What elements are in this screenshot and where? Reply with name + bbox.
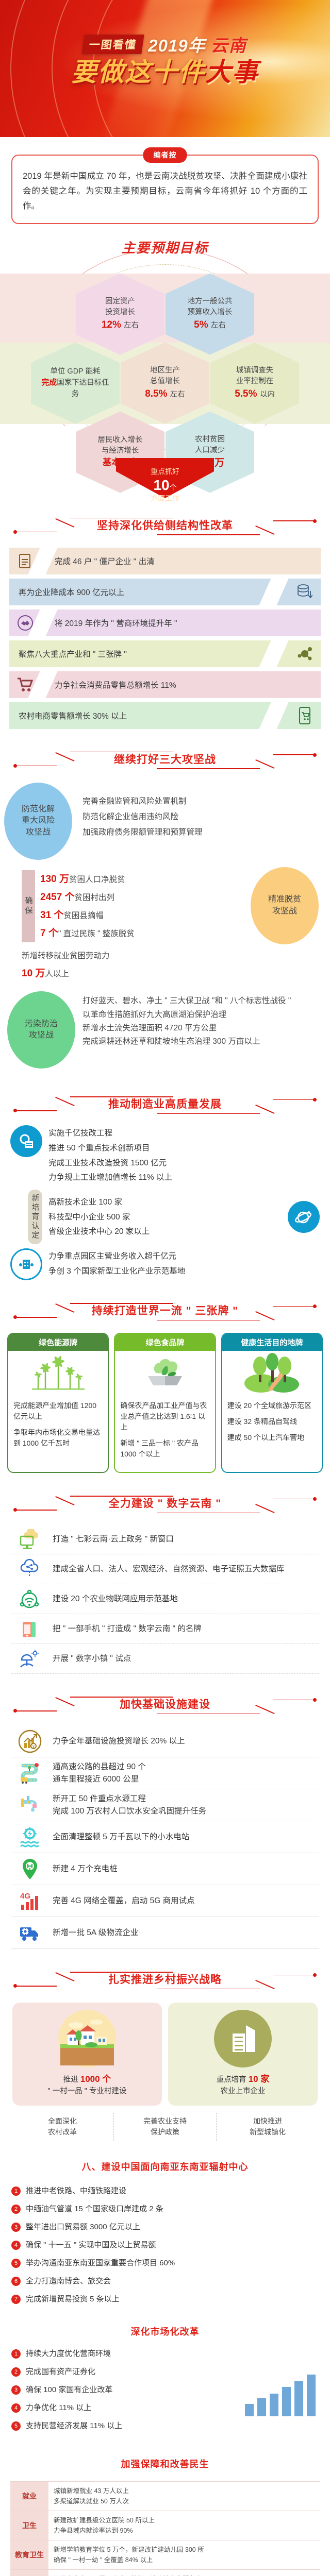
infra-row-text: 通高速公路的县超过 90 个 通车里程接近 6000 公里 <box>48 1761 146 1786</box>
digital-row-text: 开展 " 数字小镇 " 试点 <box>47 1653 131 1665</box>
section-heading-opening-up: 八、建设中国面向南亚东南亚辐射中心 <box>0 2154 330 2180</box>
rural-num: 10 家 <box>249 2074 270 2084</box>
open-row: 5举办沟通南亚东南亚国家重要合作项目 60% <box>11 2257 319 2269</box>
hex-line1: 地方一般公共 <box>188 296 233 307</box>
planet-icon <box>288 1201 320 1233</box>
card-item: 建设 32 条精品自驾线 <box>227 1416 317 1427</box>
ensure-rest: 贫困县摘帽 <box>63 911 104 920</box>
banner-text: 聚焦八大重点产业和 " 三张牌 " <box>9 648 130 659</box>
logistics-truck-icon <box>11 1921 48 1945</box>
battle-num: 10 万 <box>22 968 45 979</box>
mfg-line: 科技型中小企业 500 家 <box>48 1210 288 1225</box>
row-value: 新建改扩建县级公立医院 50 所以上 力争县域内就诊率达到 90% <box>48 2511 160 2540</box>
editor-note-badge: 编者按 <box>143 147 187 163</box>
three-battles-list: 防范化解 重大风险 攻坚战 完善金融监管和风险处置机制 防范化解企业信用违约风险… <box>0 783 330 1074</box>
livelihood-table: 就业 城镇新增就业 43 万人以上 多渠道解决就业 50 万人次 卫生 新建改扩… <box>10 2481 320 2576</box>
hex-value: 8.5% <box>145 388 167 399</box>
growth-chart-icon: ¥ <box>11 1730 48 1753</box>
rural-num: 1000 个 <box>80 2074 111 2084</box>
hex-line1: 固定资产 <box>105 296 135 307</box>
battle-line: 以革命性措施抓好九大高原湖泊保护治理 <box>82 1008 320 1022</box>
hex-value: 5% <box>194 319 208 330</box>
open-row: 4确保 " 十一五 " 实现中国及以上贸易额 <box>11 2239 319 2251</box>
digital-yunnan-list: 打造 " 七彩云南·云上政务 " 新窗口 建成全省人口、法人、宏观经济、自然资源… <box>11 1524 319 1674</box>
hex-line1: 农村贫困 <box>195 434 225 445</box>
battle-blob-label: 污染防治 攻坚战 <box>7 991 75 1069</box>
infra-row-hydropower: 全面清理整顿 5 万千瓦以下的小水电站 <box>11 1821 319 1853</box>
bullet-badge: 4 <box>11 2403 21 2413</box>
svg-text:¥: ¥ <box>32 1744 35 1749</box>
section-heading-digital-yunnan: 全力建设 " 数字云南 " <box>0 1486 330 1521</box>
row-key: 卫生 <box>10 2511 48 2540</box>
hex-line2: 与经济增长 <box>102 446 139 456</box>
blob-line: 攻坚战 <box>22 827 55 838</box>
section-heading-supply-side: 坚持深化供给侧结构性改革 <box>0 509 330 544</box>
hero-headline-gold: 要做这十件 <box>71 58 205 87</box>
hex-suffix: 左右 <box>170 391 185 399</box>
rural-columns: 全面深化 农村改革 完善农业支持 保护政策 加快推进 新型城镇化 <box>11 2113 319 2141</box>
open-row: 3整年进出口贸易额 3000 亿元以上 <box>11 2221 319 2233</box>
infra-row-text: 完善 4G 网络全覆盖，启动 5G 商用试点 <box>48 1895 195 1907</box>
wind-turbines-icon <box>8 1351 108 1395</box>
village-icon <box>58 2010 116 2067</box>
rural-col-reform: 全面深化 农村改革 <box>11 2113 113 2141</box>
rural-cards: 推进 1000 个 " 一村一品 " 专业村建设 重点培育 10 家 农业上市企… <box>12 2003 318 2106</box>
banner-eight-industries: 聚焦八大重点产业和 " 三张牌 " <box>9 640 321 667</box>
reform-row: 4力争优化 11% 以上 <box>11 2402 241 2414</box>
reform-row: 5支持民营经济发展 11% 以上 <box>11 2420 241 2432</box>
infrastructure-list: ¥ 力争全年基础设施投资增长 20% 以上 通高速公路的县超过 90 个 通车里… <box>11 1725 319 1949</box>
card-item: 新增 " 三品一标 " 农产品 1000 个以上 <box>120 1438 209 1460</box>
infographic-page: 一图看懂 2019年 云南 要做这十件大事 编者按 2019 年是新中国成立 7… <box>0 0 330 2576</box>
hex-line2: 人口减少 <box>195 445 225 456</box>
ensure-label: 确保 <box>22 870 35 943</box>
focus-arrow: 重点抓好 10个 方面工作 <box>116 458 214 498</box>
blob-line: 防范化解 <box>22 804 55 815</box>
water-tap-icon <box>11 1793 48 1817</box>
hex-suffix: 左右 <box>211 321 226 330</box>
hex-suffix: 左右 <box>124 321 139 330</box>
mfg-line: 实施千亿技改工程 <box>48 1126 172 1141</box>
section-title: 扎实推进乡村振兴战略 <box>0 1962 330 1997</box>
section-title: 推动制造业高质量发展 <box>0 1087 330 1122</box>
row-value: 推进文化惠民工程，建成一批基层综合性文化服务中心 加快推进公共文化服务体系建设 <box>48 2570 213 2576</box>
ensure-num: 31 个 <box>40 910 63 921</box>
infra-row-logistics: 新增一批 5A 级物流企业 <box>11 1917 319 1949</box>
cloud-data-icon <box>11 1559 47 1580</box>
shopping-cart-icon <box>9 677 41 692</box>
table-row: 就业 城镇新增就业 43 万人以上 多渠道解决就业 50 万人次 <box>10 2482 320 2511</box>
banner-text: 再为企业降成本 900 亿元以上 <box>9 586 127 598</box>
hex-suffix: 国家下达目标任务 <box>57 379 109 398</box>
card-title: 绿色能源牌 <box>8 1334 108 1351</box>
digital-row-digital-town: 开展 " 数字小镇 " 试点 <box>11 1644 319 1674</box>
ensure-rest: " 直过民族 " 整族脱贫 <box>58 929 135 938</box>
editor-note: 编者按 2019 年是新中国成立 70 年，也是云南决战脱贫攻坚、决胜全面建成小… <box>11 155 319 224</box>
hex-line2: 业率控制在 <box>236 376 274 387</box>
rural-col-support: 完善农业支持 保护政策 <box>113 2113 216 2141</box>
hero-year: 2019年 <box>148 32 205 57</box>
iot-wifi-icon <box>11 1589 47 1609</box>
open-row-text: 举办沟通南亚东南亚国家重要合作项目 60% <box>21 2257 175 2269</box>
banner-business-environment: 将 2019 年作为 " 营商环境提升年 " <box>9 609 321 636</box>
hex-line2: 预算收入增长 <box>188 307 233 318</box>
battle-line: 防范化解企业信用违约风险 <box>82 809 330 825</box>
reform-bar-chart <box>241 2369 319 2416</box>
mfg-line: 推进 50 个重点技术创新项目 <box>48 1141 172 1156</box>
hero-tag: 一图看懂 <box>82 35 144 54</box>
network-icon <box>289 646 321 662</box>
card-green-energy: 绿色能源牌 完成能源产业增加值 1200 <box>7 1333 109 1473</box>
open-row-text: 推进中老铁路、中缅铁路建设 <box>21 2185 126 2197</box>
bullet-badge: 4 <box>11 2241 21 2250</box>
editor-note-body: 2019 年是新中国成立 70 年，也是云南决战脱贫攻坚、决胜全面建成小康社会的… <box>11 155 319 224</box>
open-row-text: 整年进出口贸易额 3000 亿元以上 <box>21 2221 140 2233</box>
open-row: 6全力打造南博会、旅交会 <box>11 2275 319 2287</box>
bullet-badge: 1 <box>11 2349 21 2359</box>
row-value: 城镇新增就业 43 万人以上 多渠道解决就业 50 万人次 <box>48 2482 134 2511</box>
rural-lead: 推进 <box>63 2076 78 2084</box>
digital-row-one-phone: 把 " 一部手机 " 打造成 " 数字云南 " 的名牌 <box>11 1614 319 1644</box>
digital-town-icon <box>11 1649 47 1669</box>
section-title: 加快基础设施建设 <box>0 1687 330 1722</box>
blob-line: 攻坚战 <box>25 1030 58 1041</box>
hydropower-icon <box>11 1825 48 1849</box>
ensure-num: 2457 个 <box>40 892 75 903</box>
mfg-group-techreform: 实施千亿技改工程 推进 50 个重点技术创新项目 完成工业技术改造投资 1500… <box>10 1125 320 1185</box>
card-title: 健康生活目的地牌 <box>222 1334 322 1351</box>
svg-text:4G: 4G <box>20 1892 30 1901</box>
battle-pollution-control: 污染防治 攻坚战 打好蓝天、碧水、净土 " 三大保卫战 "和 " 八个标志性战役… <box>0 991 330 1069</box>
open-row: 1推进中老铁路、中缅铁路建设 <box>11 2185 319 2197</box>
reform-row-text: 支持民营经济发展 11% 以上 <box>21 2420 122 2432</box>
card-healthy-living: 健康生活目的地牌 建设 20 个全域旅游示范区 建设 32 条精品自驾线 建成 … <box>221 1333 323 1473</box>
banner-cost-reduction: 再为企业降成本 900 亿元以上 <box>9 579 321 605</box>
supply-side-banner-list: 完成 46 户 " 僵尸企业 " 出清 再为企业降成本 900 亿元以上 将 2… <box>9 548 321 729</box>
section-title: 加强保障和改善民生 <box>0 2451 330 2477</box>
battle-line: 完成退耕还林还草和陡坡地生态治理 300 万亩以上 <box>82 1035 320 1048</box>
manufacturing-list: 实施千亿技改工程 推进 50 个重点技术创新项目 完成工业技术改造投资 1500… <box>10 1125 320 1280</box>
ensure-rest: 贫困人口净脱贫 <box>69 875 125 884</box>
rural-card-listed-agri: 重点培育 10 家 农业上市企业 <box>168 2003 318 2106</box>
section-title: 深化市场化改革 <box>0 2319 330 2345</box>
hex-line1: 地区生产 <box>150 365 180 376</box>
hex-line1: 城镇调查失 <box>236 365 274 376</box>
gear-doc-icon <box>10 1125 42 1157</box>
cloud-monitor-icon <box>11 1529 47 1550</box>
mfg-line: 争创 3 个国家新型工业化产业示范基地 <box>48 1264 185 1279</box>
bullet-badge: 3 <box>11 2223 21 2232</box>
card-item: 确保农产品加工业产值与农业总产值之比达到 1.6∶1 以上 <box>120 1400 209 1433</box>
three-brands-cards: 绿色能源牌 完成能源产业增加值 1200 <box>7 1333 323 1473</box>
rural-lead: 重点培育 <box>217 2076 246 2084</box>
bullet-badge: 3 <box>11 2385 21 2395</box>
battle-line: 打好蓝天、碧水、净土 " 三大保卫战 "和 " 八个标志性战役 " <box>82 994 320 1008</box>
card-green-food: 绿色食品牌 确保农产品加工业产值与农业总产值之比达到 1.6∶1 以上 新增 "… <box>114 1333 216 1473</box>
banner-text: 农村电商零售额增长 30% 以上 <box>9 710 130 721</box>
mfg-line: 高新技术企业 100 家 <box>48 1195 288 1210</box>
bullet-badge: 2 <box>11 2367 21 2377</box>
section-title: 继续打好三大攻坚战 <box>0 742 330 777</box>
hex-value: 12% <box>102 319 121 330</box>
reform-row-text: 完成国有资产证券化 <box>21 2366 95 2378</box>
mfg-line: 完成工业技术改造投资 1500 亿元 <box>48 1156 172 1171</box>
infra-row-text: 新增一批 5A 级物流企业 <box>48 1927 138 1939</box>
digital-row-cloud-gov: 打造 " 七彩云南·云上政务 " 新窗口 <box>11 1524 319 1554</box>
section-title: 持续打造世界一流 " 三张牌 " <box>0 1294 330 1329</box>
bullet-badge: 5 <box>11 2259 21 2268</box>
mfg-line: 力争规上工业增加值增长 11% 以上 <box>48 1171 172 1185</box>
reform-row-text: 确保 100 家国有企业改革 <box>21 2384 112 2396</box>
row-value: 新增学前教育学位 5 万个，新建改扩建幼儿园 300 所 确保 " 一村一幼 "… <box>48 2540 209 2569</box>
reform-row-text: 持续大力度优化营商环境 <box>21 2348 111 2360</box>
mfg-group-newcultivation: 新培育认定 高新技术企业 100 家 科技型中小企业 500 家 省级企业技术中… <box>10 1190 320 1244</box>
banner-retail-sales: 力争社会消费品零售总额增长 11% <box>9 671 321 698</box>
section-heading-reform: 深化市场化改革 <box>0 2319 330 2345</box>
mfg-line: 省级企业技术中心 20 家以上 <box>48 1225 288 1240</box>
open-row: 7完成新增贸易投资 5 条以上 <box>11 2293 319 2306</box>
battle-line: 新增转移就业贫困劳动力 <box>22 948 207 964</box>
card-item: 完成能源产业增加值 1200 亿元以上 <box>13 1400 103 1422</box>
section-heading-three-brands: 持续打造世界一流 " 三张牌 " <box>0 1294 330 1329</box>
section-heading-rural: 扎实推进乡村振兴战略 <box>0 1962 330 1997</box>
ensure-block: 确保 130 万贫困人口净脱贫 2457 个贫困村出列 31 个贫困县摘帽 7 … <box>22 870 207 943</box>
building-icon <box>214 2010 272 2067</box>
open-row-text: 全力打造南博会、旅交会 <box>21 2275 111 2287</box>
battle-rest: 人以上 <box>45 970 69 978</box>
battle-risk-prevention: 防范化解 重大风险 攻坚战 完善金融监管和风险处置机制 防范化解企业信用违约风险… <box>0 783 330 860</box>
battle-line: 新增水土流失治理面积 4720 平方公里 <box>82 1022 320 1035</box>
infra-row-network: 4G 完善 4G 网络全覆盖，启动 5G 商用试点 <box>11 1885 319 1917</box>
reform-row: 1持续大力度优化营商环境 <box>11 2348 241 2360</box>
bullet-badge: 6 <box>11 2277 21 2286</box>
digital-row-text: 打造 " 七彩云南·云上政务 " 新窗口 <box>47 1533 174 1545</box>
rural-rest: 农业上市企业 <box>172 2086 313 2097</box>
table-row: 文化建设 推进文化惠民工程，建成一批基层综合性文化服务中心 加快推进公共文化服务… <box>10 2570 320 2576</box>
digital-row-text: 把 " 一部手机 " 打造成 " 数字云南 " 的名牌 <box>47 1623 202 1635</box>
signal-4g-icon: 4G <box>11 1889 48 1913</box>
targets-title: 主要预期目标 <box>0 238 330 257</box>
infra-row-charging: 新建 4 万个充电桩 <box>11 1853 319 1885</box>
bullet-badge: 1 <box>11 2187 21 2196</box>
ensure-num: 130 万 <box>40 874 69 885</box>
hex-line2: 总值增长 <box>150 376 180 387</box>
section-title: 八、建设中国面向南亚东南亚辐射中心 <box>0 2154 330 2180</box>
charging-pin-icon <box>11 1857 48 1881</box>
bullet-badge: 2 <box>11 2205 21 2214</box>
section-heading-livelihood: 加强保障和改善民生 <box>0 2451 330 2477</box>
section-title: 全力建设 " 数字云南 " <box>0 1486 330 1521</box>
mfg-group-parks: 力争重点园区主营业务收入超千亿元 争创 3 个国家新型工业化产业示范基地 <box>10 1248 320 1280</box>
mfg-line: 力争重点园区主营业务收入超千亿元 <box>48 1249 185 1264</box>
forest-trail-icon <box>222 1351 322 1395</box>
blob-line: 攻坚战 <box>268 906 301 917</box>
infra-row-text: 新开工 50 件重点水源工程 完成 100 万农村人口饮水安全巩固提升任务 <box>48 1793 206 1818</box>
blob-line: 污染防治 <box>25 1019 58 1030</box>
document-icon <box>9 553 41 569</box>
open-row: 2中缅油气管道 15 个国家级口岸建成 2 条 <box>11 2203 319 2215</box>
hex-line2: 投资增长 <box>105 307 135 318</box>
mfg-group-label: 新培育认定 <box>28 1190 42 1244</box>
two-phones-icon <box>11 1619 47 1639</box>
salad-bowl-icon <box>115 1351 214 1395</box>
blob-line: 精准脱贫 <box>268 894 301 905</box>
bullet-badge: 7 <box>11 2295 21 2304</box>
handshake-icon <box>9 615 41 631</box>
rural-card-one-village: 推进 1000 个 " 一村一品 " 专业村建设 <box>12 2003 162 2106</box>
battle-blob-label: 防范化解 重大风险 攻坚战 <box>4 783 72 860</box>
digital-row-databases: 建成全省人口、法人、宏观经济、自然资源、电子证照五大数据库 <box>11 1554 319 1584</box>
hero-banner: 一图看懂 2019年 云南 要做这十件大事 <box>0 0 330 137</box>
infra-row-highway: 通高速公路的县超过 90 个 通车里程接近 6000 公里 <box>11 1757 319 1789</box>
table-row: 教育卫生 新增学前教育学位 5 万个，新建改扩建幼儿园 300 所 确保 " 一… <box>10 2540 320 2570</box>
digital-row-agri-iot: 建设 20 个农业物联网应用示范基地 <box>11 1584 319 1614</box>
blob-line: 重大风险 <box>22 815 55 826</box>
infra-row-text: 全面清理整顿 5 万千瓦以下的小水电站 <box>48 1831 189 1843</box>
banner-text: 力争社会消费品零售总额增长 11% <box>41 679 179 690</box>
infra-row-text: 力争全年基础设施投资增长 20% 以上 <box>48 1735 185 1748</box>
hex-suffix: 以内 <box>260 391 275 399</box>
hex-value: 完成 <box>41 378 57 387</box>
banner-text: 将 2019 年作为 " 营商环境提升年 " <box>41 617 180 629</box>
bullet-badge: 5 <box>11 2421 21 2431</box>
infra-row-water: 新开工 50 件重点水源工程 完成 100 万农村人口饮水安全巩固提升任务 <box>11 1789 319 1821</box>
banner-text: 完成 46 户 " 僵尸企业 " 出清 <box>41 555 158 567</box>
battle-line: 完善金融监管和风险处置机制 <box>82 794 330 809</box>
opening-up-list: 1推进中老铁路、中缅铁路建设 2中缅油气管道 15 个国家级口岸建成 2 条 3… <box>11 2185 319 2306</box>
banner-zombie-enterprises: 完成 46 户 " 僵尸企业 " 出清 <box>9 548 321 574</box>
battle-line: 加强政府债务限额管理和预算管理 <box>82 825 330 840</box>
banner-rural-ecommerce: 农村电商零售额增长 30% 以上 <box>9 702 321 729</box>
card-item: 建设 20 个全域旅游示范区 <box>227 1400 317 1411</box>
highway-icon <box>11 1761 48 1785</box>
section-title: 坚持深化供给侧结构性改革 <box>0 509 330 544</box>
row-key: 就业 <box>10 2482 48 2511</box>
factory-icon <box>10 1248 42 1280</box>
section-heading-infrastructure: 加快基础设施建设 <box>0 1687 330 1722</box>
hex-line1: 单位 GDP 能耗 <box>50 366 100 377</box>
open-row-text: 确保 " 十一五 " 实现中国及以上贸易额 <box>21 2239 156 2251</box>
infra-row-investment: ¥ 力争全年基础设施投资增长 20% 以上 <box>11 1725 319 1757</box>
hero-place: 云南 <box>211 32 247 57</box>
open-row-text: 完成新增贸易投资 5 条以上 <box>21 2293 120 2306</box>
open-row-text: 中缅油气管道 15 个国家级口岸建成 2 条 <box>21 2203 163 2215</box>
reform-block: 1持续大力度优化营商环境 2完成国有资产证券化 3确保 100 家国有企业改革 … <box>11 2348 319 2438</box>
reform-row-text: 力争优化 11% 以上 <box>21 2402 91 2414</box>
card-item: 争取年内市场化交易电量达到 1000 亿千瓦时 <box>13 1427 103 1449</box>
section-heading-manufacturing: 推动制造业高质量发展 <box>0 1087 330 1122</box>
infra-row-text: 新建 4 万个充电桩 <box>48 1863 118 1875</box>
battle-poverty-alleviation: 精准脱贫 攻坚战 确保 130 万贫困人口净脱贫 2457 个贫困村出列 31 … <box>0 867 330 984</box>
digital-row-text: 建设 20 个农业物联网应用示范基地 <box>47 1593 178 1605</box>
ensure-rest: 贫困村出列 <box>75 893 115 902</box>
coins-down-icon <box>289 584 321 600</box>
rural-col-urbanization: 加快推进 新型城镇化 <box>216 2113 319 2141</box>
card-item: 建成 50 个以上汽车营地 <box>227 1432 317 1443</box>
digital-row-text: 建成全省人口、法人、宏观经济、自然资源、电子证照五大数据库 <box>47 1563 285 1575</box>
battle-blob-label: 精准脱贫 攻坚战 <box>251 867 319 944</box>
rural-rest: " 一村一品 " 专业村建设 <box>16 2086 158 2097</box>
hero-headline-red: 大事 <box>205 58 259 87</box>
mobile-cart-icon <box>289 707 321 724</box>
reform-row: 2完成国有资产证券化 <box>11 2366 241 2378</box>
table-row: 卫生 新建改扩建县级公立医院 50 所以上 力争县域内就诊率达到 90% <box>10 2511 320 2540</box>
hex-value: 5.5% <box>235 388 257 399</box>
ensure-num: 7 个 <box>40 928 58 939</box>
row-key: 教育卫生 <box>10 2540 48 2569</box>
row-key: 文化建设 <box>10 2570 48 2576</box>
reform-row: 3确保 100 家国有企业改革 <box>11 2384 241 2396</box>
card-title: 绿色食品牌 <box>115 1334 214 1351</box>
section-heading-three-battles: 继续打好三大攻坚战 <box>0 742 330 777</box>
hex-line1: 居民收入增长 <box>98 435 143 446</box>
main-targets-section: 主要预期目标 固定资产 投资增长 12% 左右 地方一般公共 预算收入增长 5%… <box>0 238 330 495</box>
